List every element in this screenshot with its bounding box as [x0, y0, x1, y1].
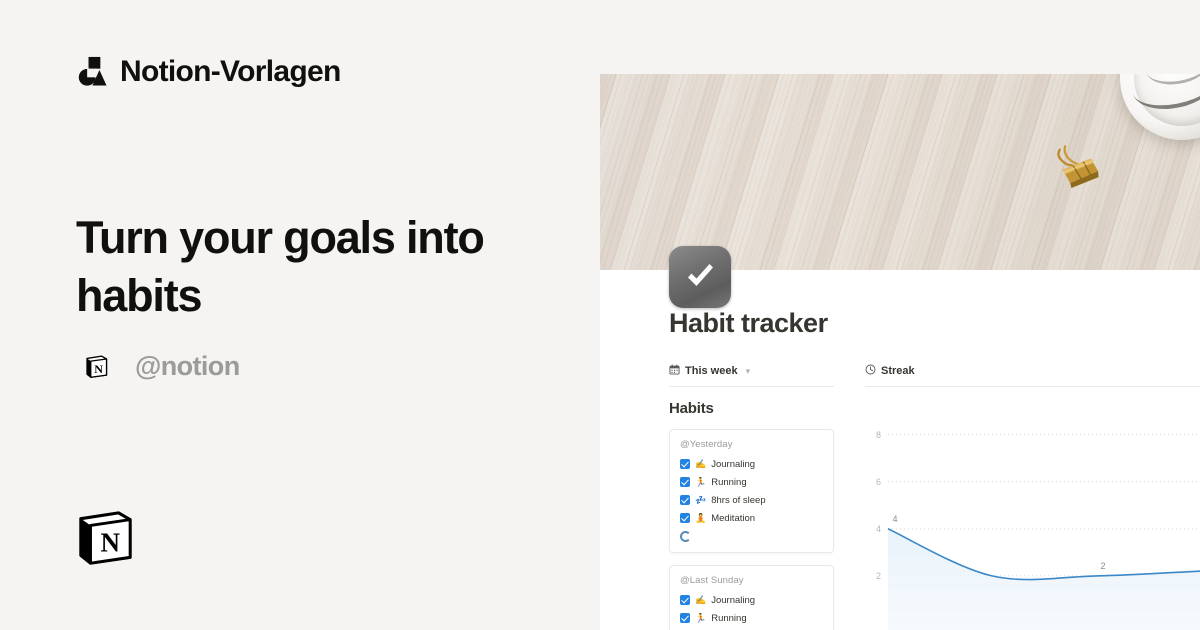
- habits-column: This week ▾ Habits @Yesterday ✍️ Journal…: [669, 360, 834, 630]
- habit-emoji: ✍️: [695, 596, 706, 605]
- card-date: @Yesterday: [680, 439, 823, 450]
- habit-label: Running: [711, 613, 746, 624]
- svg-text:2: 2: [1100, 561, 1105, 571]
- list-item[interactable]: 🏃 Running: [680, 609, 823, 627]
- brand: Notion-Vorlagen: [76, 56, 341, 87]
- svg-text:2: 2: [876, 571, 881, 581]
- list-item[interactable]: 🏃 Running: [680, 473, 823, 491]
- chevron-down-icon[interactable]: ▾: [746, 366, 751, 377]
- habit-emoji: 💤: [695, 496, 706, 505]
- habit-emoji: 🏃: [695, 478, 706, 487]
- brand-title: Notion-Vorlagen: [120, 57, 341, 87]
- view-label: This week: [685, 365, 738, 377]
- svg-text:4: 4: [876, 524, 881, 534]
- calendar-icon: [669, 362, 680, 380]
- checkmark-icon: [669, 246, 731, 308]
- checkbox-checked[interactable]: [680, 477, 690, 487]
- streak-column: Streak 246842: [865, 360, 1200, 630]
- checkbox-checked[interactable]: [680, 459, 690, 469]
- view-selector-streak[interactable]: Streak: [865, 360, 1200, 382]
- streak-chart: 246842: [865, 395, 1200, 630]
- page-root: Notion-Vorlagen Turn your goals into hab…: [0, 0, 1200, 630]
- habit-label: Meditation: [711, 513, 755, 524]
- handle-text: @notion: [135, 351, 240, 382]
- streak-chart-svg: 246842: [865, 395, 1200, 630]
- list-item[interactable]: ✍️ Journaling: [680, 455, 823, 473]
- left-panel: Notion-Vorlagen Turn your goals into hab…: [0, 0, 600, 630]
- svg-text:N: N: [94, 362, 103, 376]
- notion-page-preview: Habit tracker: [600, 74, 1200, 630]
- checkbox-checked[interactable]: [680, 495, 690, 505]
- wood-grain-texture: [600, 74, 1200, 270]
- habit-card[interactable]: @Yesterday ✍️ Journaling 🏃 Running 💤: [669, 429, 834, 553]
- shapes-logo-icon: [76, 56, 107, 87]
- page-title: Habit tracker: [669, 308, 828, 339]
- habit-emoji: ✍️: [695, 460, 706, 469]
- list-item[interactable]: 💤 8hrs of sleep: [680, 491, 823, 509]
- habit-label: Journaling: [711, 459, 755, 470]
- checkbox-checked[interactable]: [680, 595, 690, 605]
- clock-icon: [865, 362, 876, 380]
- list-item[interactable]: 🧘 Meditation: [680, 509, 823, 527]
- habit-label: Running: [711, 477, 746, 488]
- card-date: @Last Sunday: [680, 575, 823, 586]
- svg-text:4: 4: [892, 514, 897, 524]
- view-label: Streak: [881, 365, 915, 377]
- checkbox-checked[interactable]: [680, 513, 690, 523]
- column-divider: [865, 386, 1200, 387]
- loading-spinner-icon: [680, 531, 691, 542]
- column-divider: [669, 386, 834, 387]
- page-headline: Turn your goals into habits: [76, 209, 576, 324]
- svg-text:N: N: [101, 528, 121, 558]
- habit-label: Journaling: [711, 595, 755, 606]
- habit-emoji: 🧘: [695, 514, 706, 523]
- svg-text:8: 8: [876, 430, 881, 440]
- view-selector-this-week[interactable]: This week ▾: [669, 360, 834, 382]
- author-handle[interactable]: N @notion: [84, 351, 240, 382]
- list-item[interactable]: ✍️ Journaling: [680, 591, 823, 609]
- checkbox-checked[interactable]: [680, 613, 690, 623]
- svg-text:6: 6: [876, 477, 881, 487]
- notion-logo-icon: N: [76, 509, 134, 567]
- section-title-habits: Habits: [669, 400, 834, 417]
- cover-photo: [600, 74, 1200, 270]
- habit-label: 8hrs of sleep: [711, 495, 765, 506]
- habit-card[interactable]: @Last Sunday ✍️ Journaling 🏃 Running 💤: [669, 565, 834, 630]
- habit-emoji: 🏃: [695, 614, 706, 623]
- gold-binder-clip: [1048, 136, 1106, 194]
- notion-cube-icon: N: [84, 354, 109, 379]
